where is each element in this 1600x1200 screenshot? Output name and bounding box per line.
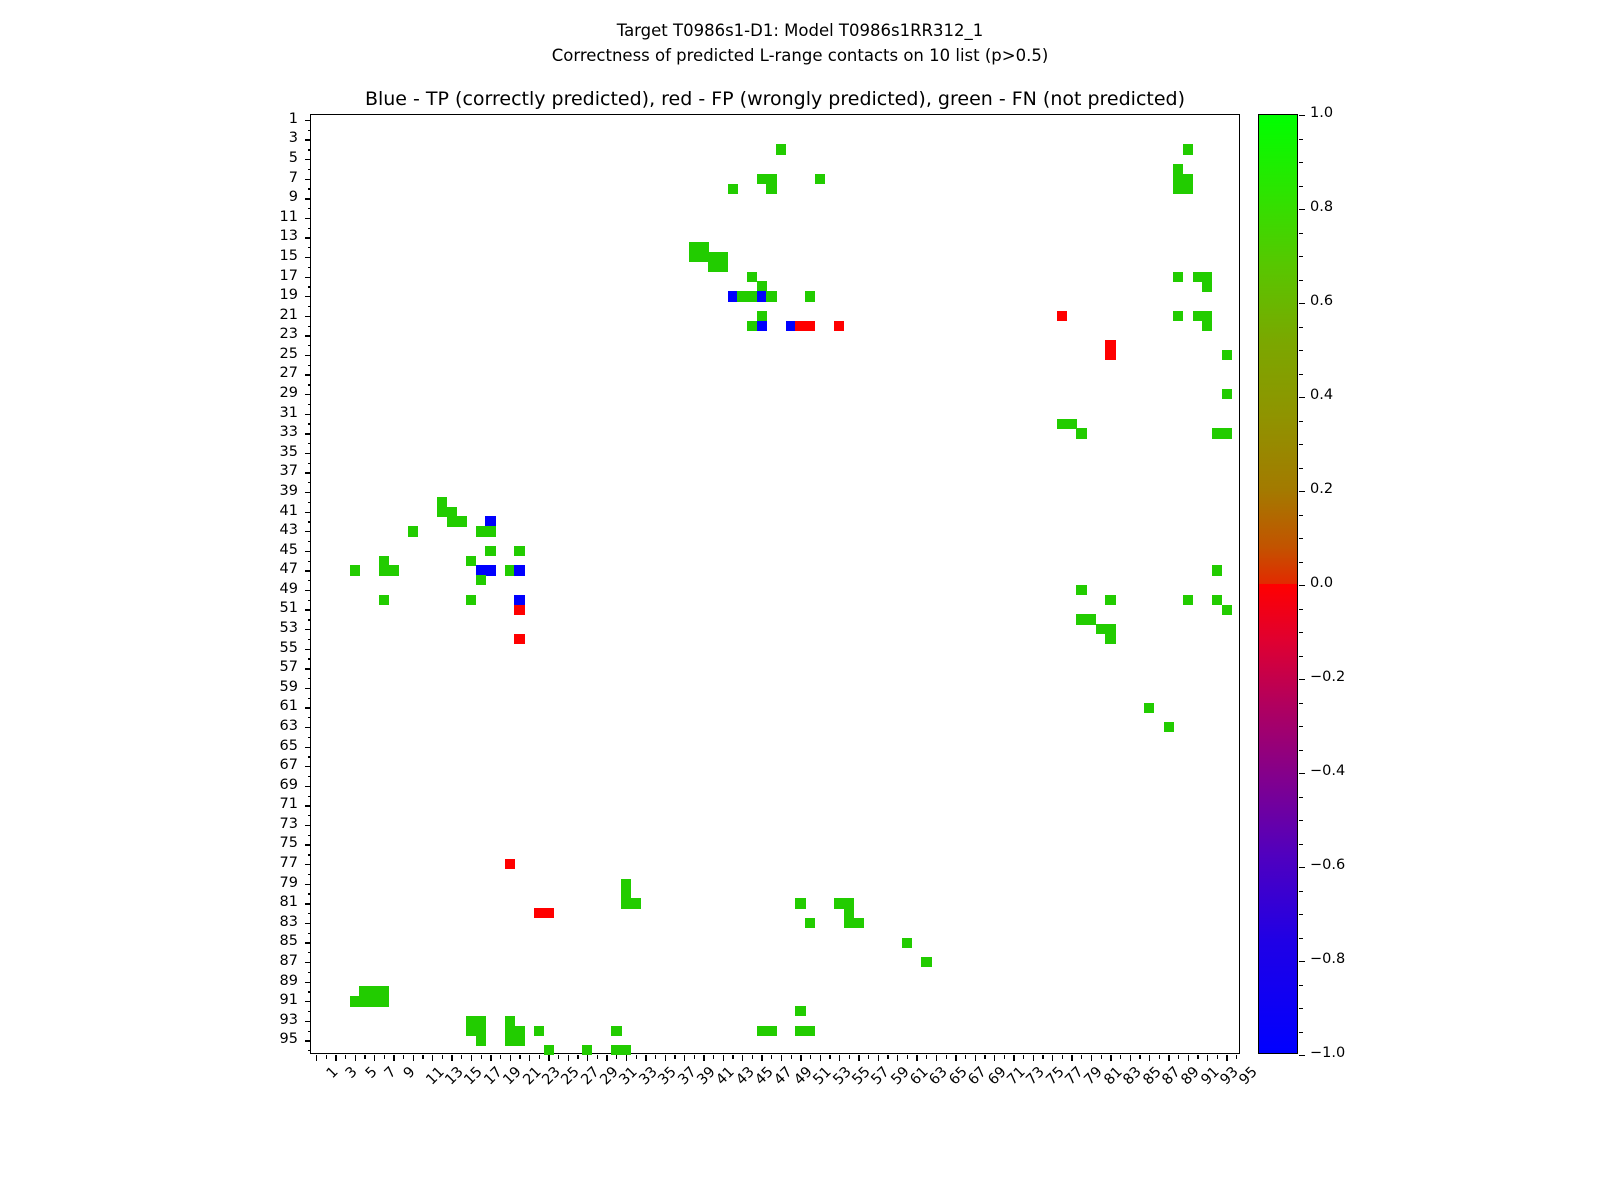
x-tick-minor [694, 1055, 695, 1059]
y-tick-minor [308, 423, 312, 424]
x-tick-minor [403, 1055, 404, 1059]
y-tick-minor [308, 639, 312, 640]
heatmap-cell [534, 1026, 544, 1036]
x-tick-major [510, 1055, 511, 1061]
axes-title: Blue - TP (correctly predicted), red - F… [310, 88, 1240, 110]
heatmap-cell [505, 1035, 515, 1045]
x-tick-minor [1139, 1055, 1140, 1059]
colorbar-tick-label: −0.6 [1310, 858, 1345, 872]
x-tick-major [955, 1055, 956, 1061]
x-tick-minor [887, 1055, 888, 1059]
x-tick-major [1052, 1055, 1053, 1061]
y-tick-major [305, 355, 311, 356]
heatmap-cell [466, 1016, 476, 1026]
heatmap-cell [514, 1035, 524, 1045]
heatmap-cell [379, 986, 389, 996]
x-tick-major [1168, 1055, 1169, 1061]
colorbar-tick-label: −0.2 [1310, 670, 1345, 684]
heatmap-cell [747, 272, 757, 282]
colorbar-tick-minor [1299, 703, 1303, 704]
colorbar-tick-minor [1299, 1032, 1303, 1033]
x-tick-minor [1062, 1055, 1063, 1059]
x-tick-minor [1159, 1055, 1160, 1059]
colorbar-tick-minor [1299, 421, 1303, 422]
x-tick-major [1226, 1055, 1227, 1061]
y-tick-label: 61 [238, 699, 298, 713]
y-tick-label: 7 [238, 171, 298, 185]
x-tick-major [742, 1055, 743, 1061]
y-tick-label: 13 [238, 229, 298, 243]
y-tick-minor [308, 678, 312, 679]
heatmap-cell [379, 556, 389, 566]
y-tick-major [305, 923, 311, 924]
colorbar-tick-minor [1299, 139, 1303, 140]
y-tick-label: 25 [238, 347, 298, 361]
heatmap-cell [757, 281, 767, 291]
heatmap-cell [1222, 350, 1232, 360]
heatmap-cell [611, 1045, 621, 1055]
heatmap-cell [476, 575, 486, 585]
heatmap-cell [1105, 340, 1115, 350]
y-tick-minor [308, 169, 312, 170]
colorbar-tick-minor [1299, 820, 1303, 821]
y-tick-major [305, 786, 311, 787]
x-tick-major [858, 1055, 859, 1061]
heatmap-cell [834, 321, 844, 331]
colorbar-tick [1299, 961, 1305, 962]
x-tick-minor [636, 1055, 637, 1059]
heatmap-cell [757, 311, 767, 321]
y-tick-major [305, 609, 311, 610]
colorbar-tick-minor [1299, 1008, 1303, 1009]
heatmap-cell [631, 898, 641, 908]
heatmap-cell [718, 262, 728, 272]
y-tick-major [305, 570, 311, 571]
y-tick-minor [308, 854, 312, 855]
y-tick-minor [308, 443, 312, 444]
x-tick-major [800, 1055, 801, 1061]
heatmap-cell [534, 908, 544, 918]
y-tick-major [305, 982, 311, 983]
x-tick-minor [539, 1055, 540, 1059]
heatmap-cell [621, 889, 631, 899]
heatmap-cell [621, 1045, 631, 1055]
y-tick-minor [308, 267, 312, 268]
heatmap-cell [1076, 585, 1086, 595]
heatmap-cell [476, 1016, 486, 1026]
x-tick-major [413, 1055, 414, 1061]
heatmap-cell [544, 908, 554, 918]
x-tick-major [316, 1055, 317, 1061]
x-tick-major [626, 1055, 627, 1061]
heatmap-cell [1212, 565, 1222, 575]
x-tick-minor [713, 1055, 714, 1059]
heatmap-cell [766, 174, 776, 184]
heatmap-cell [728, 184, 738, 194]
heatmap-cell [1193, 272, 1203, 282]
heatmap-cell [1183, 174, 1193, 184]
heatmap-cell [456, 516, 466, 526]
heatmap-cell [844, 908, 854, 918]
colorbar-tick-minor [1299, 914, 1303, 915]
colorbar-gradient [1259, 115, 1297, 1053]
heatmap-cell [747, 321, 757, 331]
x-tick-major [1188, 1055, 1189, 1061]
x-tick-minor [616, 1055, 617, 1059]
y-tick-label: 85 [238, 934, 298, 948]
x-tick-major [471, 1055, 472, 1061]
heatmap-cell [699, 252, 709, 262]
x-tick-major [994, 1055, 995, 1061]
heatmap-cell [728, 291, 738, 301]
y-tick-label: 69 [238, 778, 298, 792]
heatmap-cell [1183, 144, 1193, 154]
heatmap-cell [1202, 281, 1212, 291]
y-tick-minor [308, 913, 312, 914]
x-tick-minor [1023, 1055, 1024, 1059]
x-tick-label: 1 [324, 1064, 342, 1082]
heatmap-cell [805, 1026, 815, 1036]
y-tick-major [305, 179, 311, 180]
y-tick-label: 55 [238, 641, 298, 655]
y-tick-label: 81 [238, 895, 298, 909]
colorbar-tick-minor [1299, 233, 1303, 234]
y-tick-minor [308, 208, 312, 209]
heatmap-cell [1057, 419, 1067, 429]
y-tick-label: 83 [238, 915, 298, 929]
y-tick-major [305, 1001, 311, 1002]
x-tick-minor [732, 1055, 733, 1059]
heatmap-cell [485, 546, 495, 556]
y-tick-label: 39 [238, 484, 298, 498]
y-tick-minor [308, 972, 312, 973]
heatmap-cell [514, 605, 524, 615]
x-tick-major [897, 1055, 898, 1061]
contact-map-plot-area[interactable] [310, 114, 1240, 1054]
y-tick-minor [308, 658, 312, 659]
y-tick-major [305, 825, 311, 826]
y-tick-major [305, 942, 311, 943]
heatmap-cell [1173, 272, 1183, 282]
heatmap-cell [389, 565, 399, 575]
y-tick-label: 1 [238, 112, 298, 126]
colorbar-tick-minor [1299, 468, 1303, 469]
x-tick-minor [849, 1055, 850, 1059]
heatmap-cell [476, 526, 486, 536]
y-tick-major [305, 394, 311, 395]
y-tick-minor [308, 698, 312, 699]
heatmap-cell [902, 938, 912, 948]
y-tick-minor [308, 541, 312, 542]
heatmap-cell [514, 634, 524, 644]
y-tick-label: 45 [238, 543, 298, 557]
x-tick-minor [965, 1055, 966, 1059]
y-tick-major [305, 1021, 311, 1022]
colorbar-tick [1299, 679, 1305, 680]
y-tick-label: 29 [238, 386, 298, 400]
x-tick-minor [810, 1055, 811, 1059]
heatmap-cell [447, 507, 457, 517]
x-tick-major [820, 1055, 821, 1061]
y-tick-minor [308, 1011, 312, 1012]
colorbar-tick [1299, 303, 1305, 304]
x-tick-major [374, 1055, 375, 1061]
x-tick-major [393, 1055, 394, 1061]
heatmap-cell [766, 1026, 776, 1036]
x-tick-major [355, 1055, 356, 1061]
heatmap-cell [466, 595, 476, 605]
heatmap-cell [1096, 624, 1106, 634]
heatmap-cell [795, 321, 805, 331]
heatmap-cell [844, 898, 854, 908]
colorbar-tick-minor [1299, 562, 1303, 563]
colorbar-tick [1299, 867, 1305, 868]
colorbar-tick-minor [1299, 515, 1303, 516]
heatmap-cell [708, 252, 718, 262]
colorbar-tick-minor [1299, 280, 1303, 281]
y-tick-label: 15 [238, 249, 298, 263]
colorbar-tick-minor [1299, 538, 1303, 539]
x-tick-minor [500, 1055, 501, 1059]
heatmap-cell [359, 996, 369, 1006]
y-tick-major [305, 296, 311, 297]
x-tick-minor [519, 1055, 520, 1059]
y-tick-major [305, 120, 311, 121]
figure-suptitle: Target T0986s1-D1: Model T0986s1RR312_1 … [0, 18, 1600, 68]
y-tick-label: 57 [238, 660, 298, 674]
y-tick-minor [308, 247, 312, 248]
x-tick-minor [461, 1055, 462, 1059]
y-tick-major [305, 962, 311, 963]
colorbar-tick [1299, 491, 1305, 492]
y-tick-label: 37 [238, 464, 298, 478]
x-tick-major [1091, 1055, 1092, 1061]
y-tick-major [305, 472, 311, 473]
x-tick-minor [326, 1055, 327, 1059]
x-tick-minor [1120, 1055, 1121, 1059]
x-tick-minor [1197, 1055, 1198, 1059]
heatmap-cell [747, 291, 757, 301]
colorbar-tick-minor [1299, 350, 1303, 351]
y-tick-minor [308, 600, 312, 601]
x-tick-major [723, 1055, 724, 1061]
y-tick-major [305, 531, 311, 532]
y-tick-major [305, 805, 311, 806]
y-tick-label: 3 [238, 131, 298, 145]
x-tick-minor [1004, 1055, 1005, 1059]
y-tick-label: 67 [238, 758, 298, 772]
colorbar[interactable] [1258, 114, 1298, 1054]
x-tick-major [684, 1055, 685, 1061]
heatmap-cell [1212, 428, 1222, 438]
heatmap-cell [350, 565, 360, 575]
heatmap-cell [1202, 311, 1212, 321]
colorbar-tick-minor [1299, 985, 1303, 986]
y-tick-label: 75 [238, 836, 298, 850]
colorbar-tick-label: −0.8 [1310, 952, 1345, 966]
x-tick-major [781, 1055, 782, 1061]
x-tick-minor [558, 1055, 559, 1059]
y-tick-label: 5 [238, 151, 298, 165]
colorbar-tick-minor [1299, 750, 1303, 751]
colorbar-tick-label: 0.0 [1310, 576, 1333, 590]
y-tick-minor [308, 365, 312, 366]
x-tick-label: 7 [382, 1064, 400, 1082]
y-tick-major [305, 374, 311, 375]
heatmap-cell [757, 174, 767, 184]
y-tick-minor [308, 286, 312, 287]
heatmap-cell [514, 546, 524, 556]
x-tick-label: 5 [362, 1064, 380, 1082]
y-tick-major [305, 590, 311, 591]
y-tick-major [305, 766, 311, 767]
heatmap-cell [447, 516, 457, 526]
x-tick-major [703, 1055, 704, 1061]
x-tick-minor [1042, 1055, 1043, 1059]
y-tick-major [305, 237, 311, 238]
y-tick-label: 53 [238, 621, 298, 635]
x-tick-minor [655, 1055, 656, 1059]
heatmap-cell [1173, 184, 1183, 194]
y-tick-minor [308, 502, 312, 503]
y-tick-major [305, 414, 311, 415]
y-tick-label: 93 [238, 1013, 298, 1027]
y-tick-label: 79 [238, 876, 298, 890]
y-tick-label: 71 [238, 797, 298, 811]
heatmap-cell [805, 291, 815, 301]
y-tick-minor [308, 345, 312, 346]
y-tick-minor [308, 149, 312, 150]
heatmap-cell [485, 516, 495, 526]
heatmap-cell [582, 1045, 592, 1055]
heatmap-cell [544, 1045, 554, 1055]
y-tick-minor [308, 326, 312, 327]
colorbar-tick-label: 1.0 [1310, 106, 1333, 120]
x-tick-minor [1178, 1055, 1179, 1059]
heatmap-cell [737, 291, 747, 301]
heatmap-cell [689, 242, 699, 252]
y-tick-major [305, 335, 311, 336]
y-tick-major [305, 159, 311, 160]
colorbar-tick-minor [1299, 327, 1303, 328]
colorbar-tick-minor [1299, 844, 1303, 845]
y-tick-minor [308, 384, 312, 385]
y-tick-minor [308, 130, 312, 131]
heatmap-cell [776, 144, 786, 154]
heatmap-cell [1222, 605, 1232, 615]
heatmap-cell [621, 898, 631, 908]
heatmap-cell [505, 859, 515, 869]
x-tick-minor [907, 1055, 908, 1059]
colorbar-tick-minor [1299, 938, 1303, 939]
x-tick-major [490, 1055, 491, 1061]
x-tick-minor [422, 1055, 423, 1059]
x-tick-major [916, 1055, 917, 1061]
colorbar-tick [1299, 209, 1305, 210]
y-tick-minor [308, 933, 312, 934]
x-tick-minor [364, 1055, 365, 1059]
heatmap-cell [1173, 164, 1183, 174]
heatmap-cell [437, 507, 447, 517]
x-tick-minor [597, 1055, 598, 1059]
heatmap-cell [1076, 428, 1086, 438]
heatmap-cell [1193, 311, 1203, 321]
y-tick-minor [308, 952, 312, 953]
y-tick-major [305, 747, 311, 748]
x-tick-major [451, 1055, 452, 1061]
y-tick-label: 59 [238, 680, 298, 694]
y-tick-label: 87 [238, 954, 298, 968]
heatmap-cell [1076, 614, 1086, 624]
colorbar-tick-minor [1299, 609, 1303, 610]
y-tick-minor [308, 306, 312, 307]
heatmap-cell [854, 918, 864, 928]
y-tick-label: 27 [238, 366, 298, 380]
colorbar-tick-label: 0.6 [1310, 294, 1333, 308]
x-tick-major [1033, 1055, 1034, 1061]
y-tick-label: 41 [238, 504, 298, 518]
y-tick-minor [308, 874, 312, 875]
y-tick-label: 95 [238, 1032, 298, 1046]
x-tick-minor [674, 1055, 675, 1059]
x-tick-major [878, 1055, 879, 1061]
x-tick-major [529, 1055, 530, 1061]
y-tick-label: 73 [238, 817, 298, 831]
heatmap-cell [476, 1026, 486, 1036]
x-tick-major [839, 1055, 840, 1061]
y-tick-label: 31 [238, 406, 298, 420]
heatmap-cell [437, 497, 447, 507]
colorbar-tick-minor [1299, 632, 1303, 633]
y-tick-minor [308, 188, 312, 189]
y-tick-major [305, 277, 311, 278]
heatmap-cell [408, 526, 418, 536]
x-tick-minor [345, 1055, 346, 1059]
y-tick-minor [308, 482, 312, 483]
colorbar-tick-minor [1299, 726, 1303, 727]
heatmap-cell [699, 242, 709, 252]
x-tick-major [1013, 1055, 1014, 1061]
heatmap-cell [1222, 389, 1232, 399]
heatmap-cell [815, 174, 825, 184]
x-tick-minor [752, 1055, 753, 1059]
colorbar-tick-label: 0.4 [1310, 388, 1333, 402]
x-tick-minor [577, 1055, 578, 1059]
heatmap-cell [757, 1026, 767, 1036]
y-tick-major [305, 903, 311, 904]
x-tick-major [432, 1055, 433, 1061]
y-tick-label: 43 [238, 523, 298, 537]
x-tick-major [975, 1055, 976, 1061]
y-tick-major [305, 668, 311, 669]
x-tick-label: 95 [1237, 1064, 1261, 1088]
y-tick-minor [308, 463, 312, 464]
y-tick-label: 77 [238, 856, 298, 870]
heatmap-cell [757, 321, 767, 331]
heatmap-cell [466, 1026, 476, 1036]
x-tick-major [1149, 1055, 1150, 1061]
heatmap-cell [1183, 595, 1193, 605]
heatmap-cell [766, 291, 776, 301]
heatmap-cell [1202, 321, 1212, 331]
x-tick-minor [771, 1055, 772, 1059]
colorbar-tick [1299, 773, 1305, 774]
y-tick-minor [308, 619, 312, 620]
heatmap-cell [834, 898, 844, 908]
colorbar-tick-label: −1.0 [1310, 1046, 1345, 1060]
heatmap-cell [466, 556, 476, 566]
colorbar-tick-minor [1299, 256, 1303, 257]
